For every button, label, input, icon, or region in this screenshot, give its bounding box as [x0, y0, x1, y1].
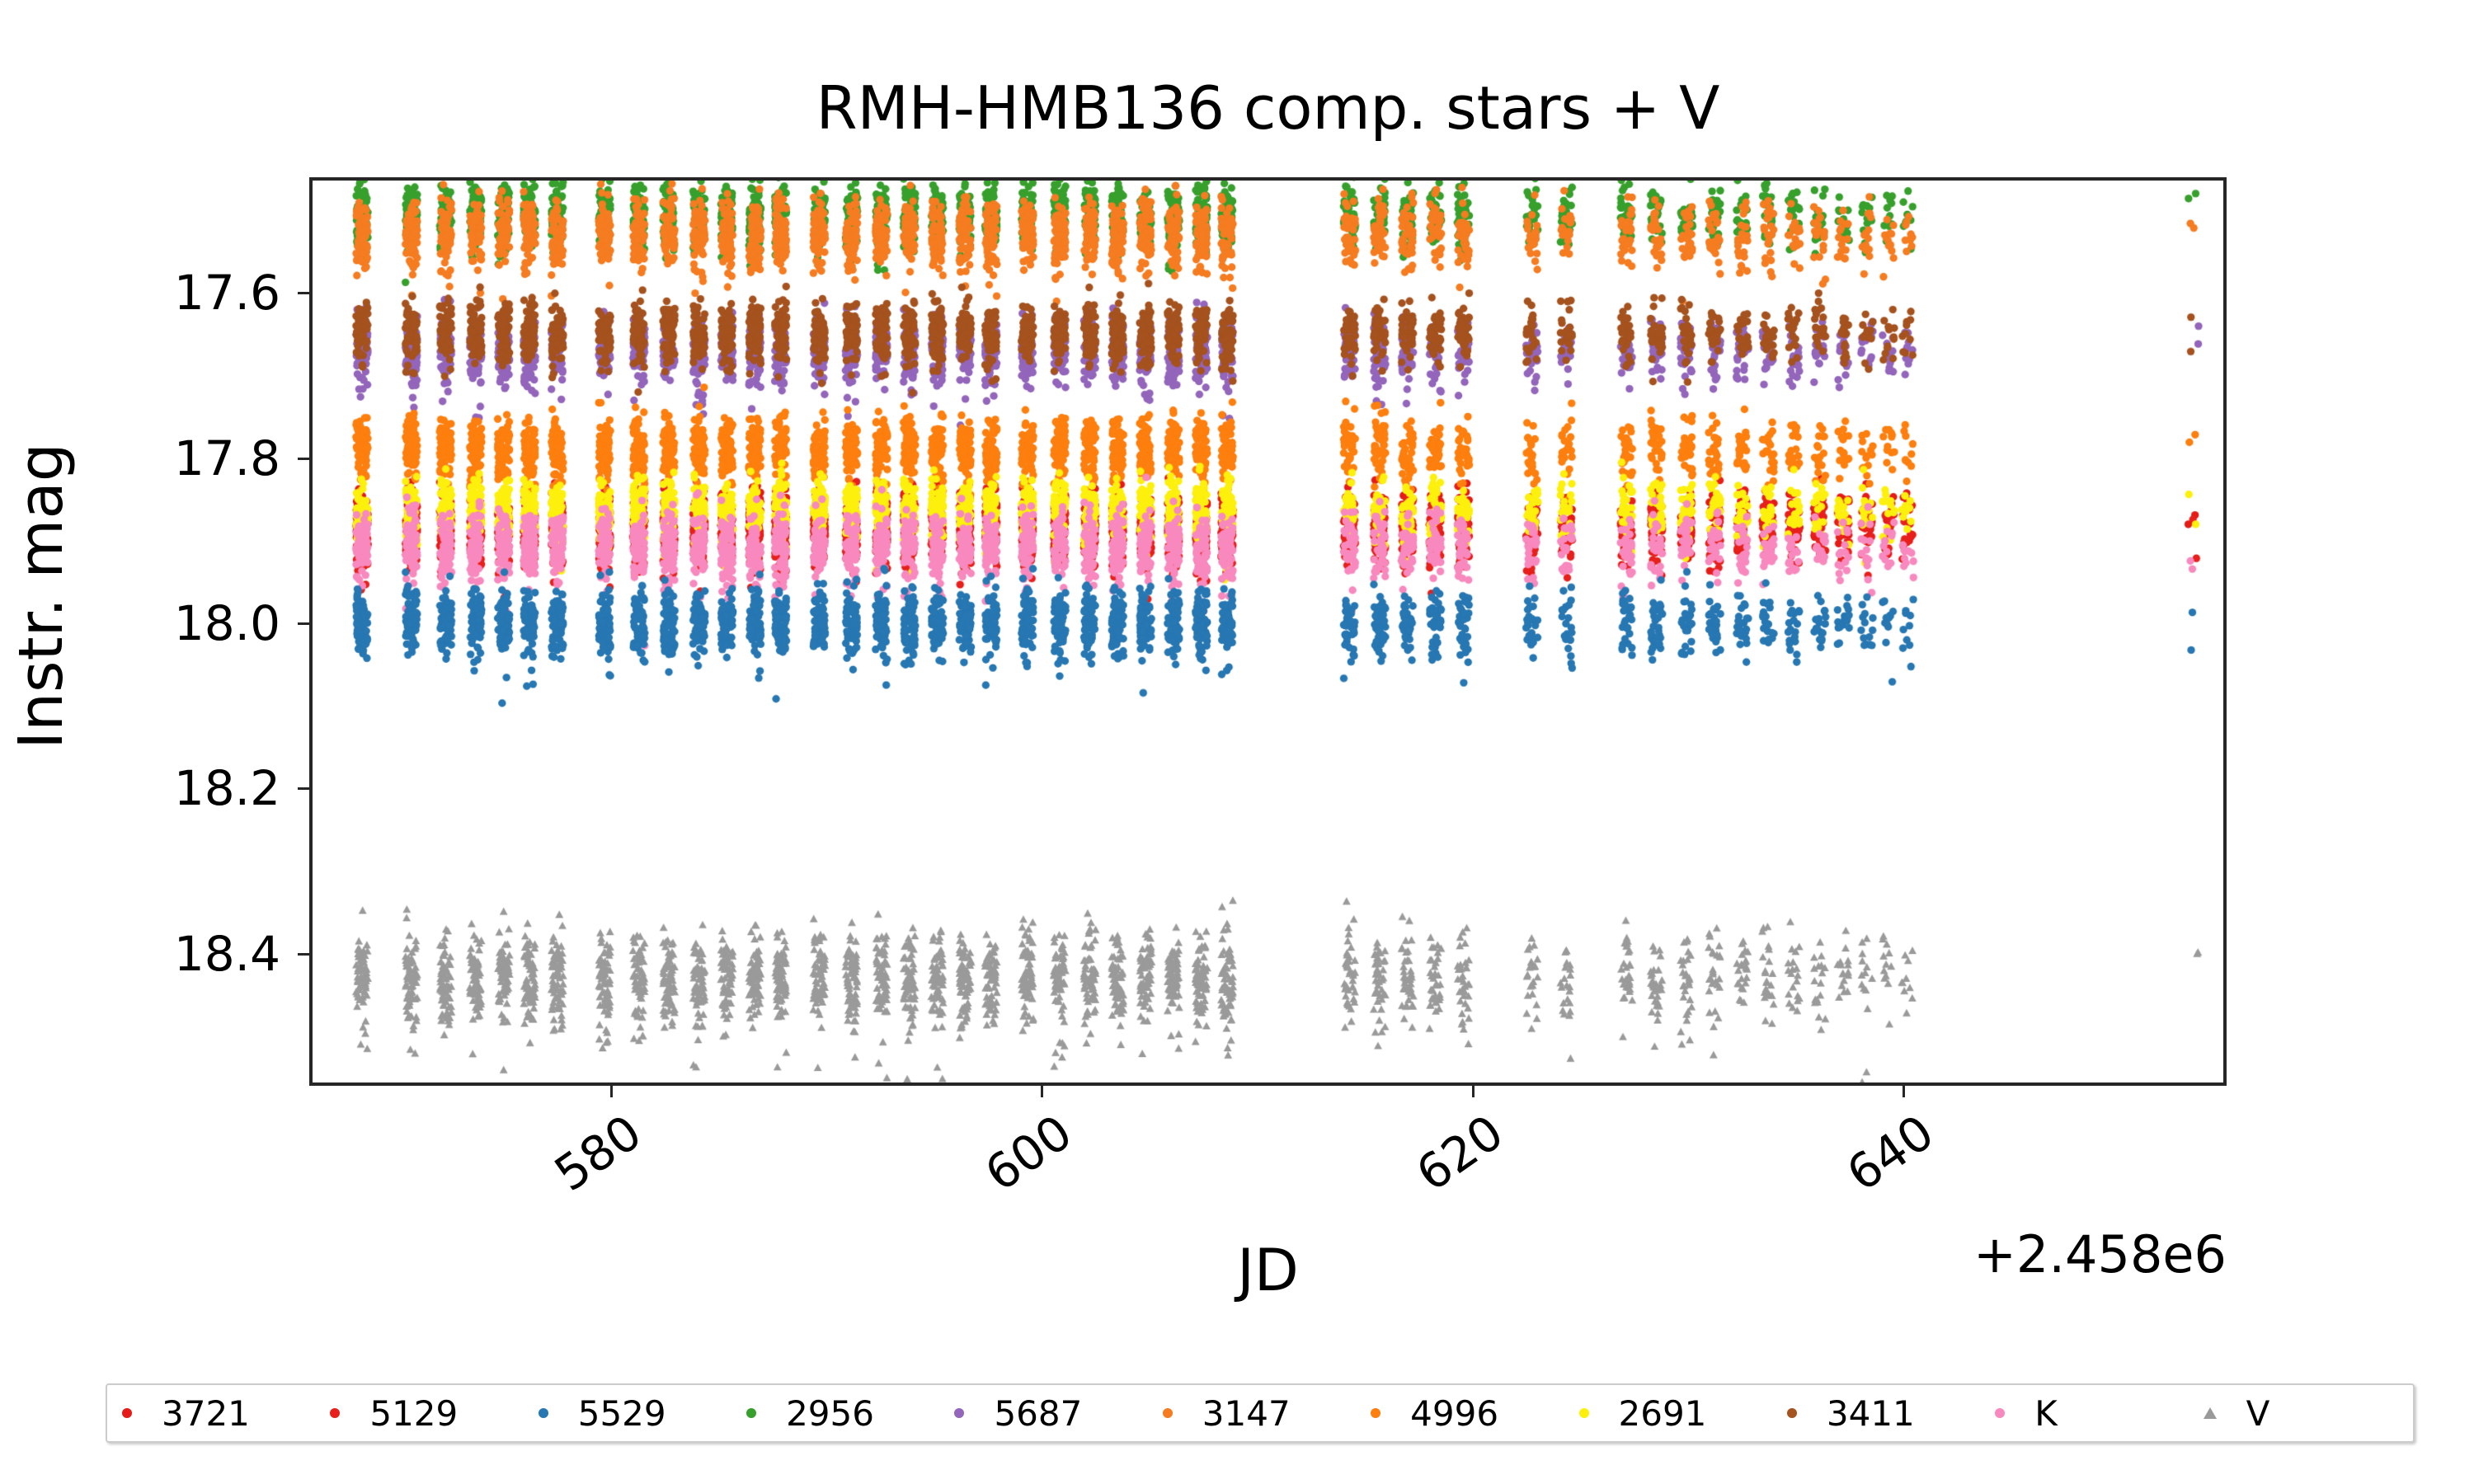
legend-label: 4996	[1410, 1393, 1498, 1434]
y-tick-label: 18.2	[174, 760, 280, 816]
legend-label: 2956	[786, 1393, 874, 1434]
y-tick-mark	[298, 458, 309, 460]
y-tick-mark	[298, 953, 309, 956]
dot-marker-icon	[1995, 1408, 2005, 1418]
x-tick-label: 640	[1824, 1104, 1944, 1211]
y-tick-mark	[298, 292, 309, 294]
legend-label: 5687	[994, 1393, 1082, 1434]
y-tick-label: 17.6	[174, 265, 280, 321]
legend-label: K	[2034, 1393, 2058, 1434]
y-tick-label: 18.4	[174, 926, 280, 982]
x-tick-mark	[1472, 1086, 1475, 1097]
legend-label: 2691	[1619, 1393, 1707, 1434]
chart-legend: 372151295529295656873147499626913411KV	[106, 1383, 2415, 1443]
y-tick-label: 17.8	[174, 430, 280, 486]
dot-marker-icon	[1163, 1408, 1173, 1418]
legend-label: 5129	[369, 1393, 458, 1434]
legend-item-v[interactable]: V	[2197, 1393, 2405, 1434]
x-tick-label: 600	[962, 1104, 1082, 1211]
legend-item-5529[interactable]: 5529	[532, 1393, 740, 1434]
page-title: RMH-HMB136 comp. stars + V	[309, 78, 2227, 138]
y-tick-label: 18.0	[174, 595, 280, 651]
legend-label: V	[2246, 1393, 2270, 1434]
legend-item-3411[interactable]: 3411	[1780, 1393, 1988, 1434]
dot-marker-icon	[330, 1408, 340, 1418]
dot-marker-icon	[746, 1408, 756, 1418]
legend-label: 3721	[162, 1393, 250, 1434]
x-tick-mark	[1903, 1086, 1905, 1097]
scatter-plot-canvas	[313, 181, 2223, 1082]
dot-marker-icon	[954, 1408, 964, 1418]
triangle-marker-icon	[2204, 1407, 2217, 1419]
legend-item-3147[interactable]: 3147	[1156, 1393, 1364, 1434]
x-tick-label: 620	[1393, 1104, 1512, 1211]
legend-label: 3147	[1202, 1393, 1291, 1434]
dot-marker-icon	[1579, 1408, 1589, 1418]
x-tick-label: 580	[531, 1104, 651, 1211]
legend-label: 5529	[578, 1393, 666, 1434]
legend-item-3721[interactable]: 3721	[115, 1393, 323, 1434]
x-axis-label: JD	[309, 1237, 2227, 1304]
legend-label: 3411	[1827, 1393, 1915, 1434]
y-tick-mark	[298, 787, 309, 790]
legend-item-5687[interactable]: 5687	[948, 1393, 1155, 1434]
y-tick-mark	[298, 622, 309, 625]
x-axis-offset-label: +2.458e6	[1973, 1224, 2227, 1284]
figure-root: RMH-HMB136 comp. stars + V Instr. mag 17…	[0, 0, 2474, 1484]
legend-item-2956[interactable]: 2956	[740, 1393, 948, 1434]
y-axis-label: Instr. mag	[6, 225, 77, 967]
x-tick-mark	[1041, 1086, 1043, 1097]
legend-item-4996[interactable]: 4996	[1364, 1393, 1572, 1434]
legend-item-k[interactable]: K	[1988, 1393, 2196, 1434]
dot-marker-icon	[122, 1408, 132, 1418]
legend-item-5129[interactable]: 5129	[323, 1393, 531, 1434]
dot-marker-icon	[1371, 1408, 1380, 1418]
legend-item-2691[interactable]: 2691	[1573, 1393, 1780, 1434]
x-tick-mark	[610, 1086, 613, 1097]
dot-marker-icon	[539, 1408, 548, 1418]
dot-marker-icon	[1787, 1408, 1797, 1418]
plot-area	[309, 177, 2227, 1086]
